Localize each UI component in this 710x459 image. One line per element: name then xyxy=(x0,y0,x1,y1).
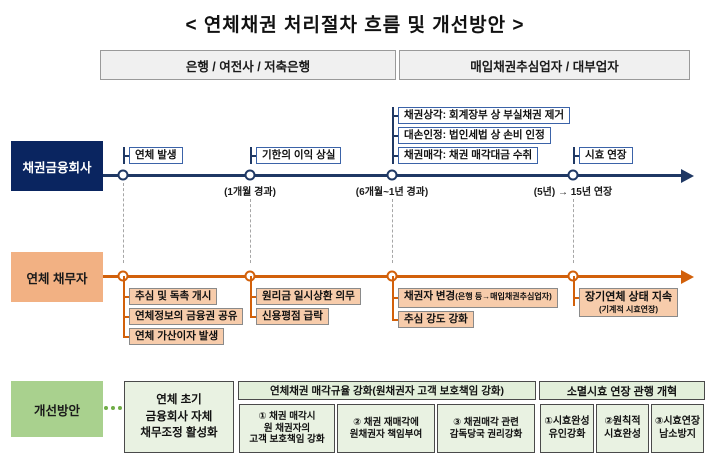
plan-cell-line: ①시효완성 xyxy=(544,416,589,429)
creditor-callout-2-1: 대손인정: 법인세법 상 손비 인정 xyxy=(398,127,551,144)
creditor-callout-0-0: 연체 발생 xyxy=(129,147,183,164)
debtor-callout-2-0: 채권자 변경(은행 등→매입채권추심업자) xyxy=(398,288,558,308)
page-title: < 연체채권 처리절차 흐름 및 개선방안 > xyxy=(0,10,710,37)
creditor-time-caption-2: (6개월~1년 경과) xyxy=(356,183,428,198)
plan-group-heading-0: 연체채권 매각규율 강화(원채권자 고객 보호책임 강화) xyxy=(238,381,536,400)
plan-dotted-connector xyxy=(104,406,122,410)
row-label-creditor: 채권금융회사 xyxy=(11,141,103,191)
plan-cell-line: ②원칙적 xyxy=(604,416,640,429)
debtor-stem-0 xyxy=(123,276,125,337)
plan-group-0-cell-2: ③ 채권매각 관련감독당국 권리강화 xyxy=(437,404,535,453)
header-bank-group: 은행 / 여전사 / 저축은행 xyxy=(100,50,396,80)
creditor-time-caption-3: (5년) → 15년 연장 xyxy=(534,183,612,198)
creditor-callout-3-0: 시효 연장 xyxy=(579,147,633,164)
guide-line-upper-0 xyxy=(123,183,124,263)
debtor-stem-1 xyxy=(250,276,252,317)
debtor-callout-0-0: 추심 및 독촉 개시 xyxy=(129,288,217,305)
debtor-callout-subtext: (기계적 시효연장) xyxy=(599,305,658,314)
debtor-callout-3-0: 장기연체 상태 지속(기계적 시효연장) xyxy=(579,288,678,317)
guide-line-upper-2 xyxy=(392,199,393,263)
header-buyer-group: 매입채권추심업자 / 대부업자 xyxy=(399,50,690,80)
debtor-callout-text: 채권자 변경 xyxy=(404,290,455,302)
creditor-callout-2-2: 채권매각: 채권 매각대금 수취 xyxy=(398,147,538,164)
debtor-callout-0-1: 연체정보의 금융권 공유 xyxy=(129,308,243,325)
debtor-stem-2 xyxy=(392,276,394,320)
debtor-callout-1-1: 신용평점 급락 xyxy=(256,308,329,325)
creditor-callout-1-0: 기한의 이익 상실 xyxy=(256,147,341,164)
creditor-node-3 xyxy=(568,170,579,181)
plan-cell-line: 남소방지 xyxy=(659,429,696,442)
plan-cell-line: ③시효연장 xyxy=(655,416,700,429)
plan-standalone-line: 금융회사 자체 xyxy=(146,409,213,426)
plan-standalone-line: 채무조정 활성화 xyxy=(140,425,217,442)
plan-cell-line: 원 채권자의 xyxy=(264,423,310,435)
row-label-debtor: 연체 채무자 xyxy=(11,252,103,302)
plan-cell-line: ② 채권 재매각에 xyxy=(353,417,419,429)
debtor-stem-3 xyxy=(573,276,575,306)
plan-group-0-cell-0: ① 채권 매각시원 채권자의고객 보호책임 강화 xyxy=(239,404,335,453)
creditor-time-caption-1: (1개월 경과) xyxy=(224,183,276,198)
debtor-callout-1-0: 원리금 일시상환 의무 xyxy=(256,288,361,305)
plan-group-1-cell-1: ②원칙적시효완성 xyxy=(596,404,649,453)
plan-standalone-line: 연체 초기 xyxy=(156,392,202,409)
guide-line-upper-3 xyxy=(573,199,574,263)
plan-cell-line: 감독당국 권리강화 xyxy=(450,429,523,441)
creditor-node-1 xyxy=(245,170,256,181)
plan-cell-line: ① 채권 매각시 xyxy=(258,411,315,423)
plan-group-1-cell-2: ③시효연장남소방지 xyxy=(651,404,704,453)
debtor-axis-arrow-icon xyxy=(681,270,694,284)
creditor-axis-arrow-icon xyxy=(681,169,694,183)
plan-group-0-cell-1: ② 채권 재매각에원채권자 책임부여 xyxy=(337,404,435,453)
plan-cell-line: 유인강화 xyxy=(549,429,586,442)
debtor-callout-2-1: 추심 강도 강화 xyxy=(398,311,474,328)
plan-cell-line: 고객 보호책임 강화 xyxy=(249,434,324,446)
plan-cell-line: 원채권자 책임부여 xyxy=(350,429,423,441)
plan-standalone-box: 연체 초기금융회사 자체채무조정 활성화 xyxy=(124,381,234,453)
creditor-callout-2-0: 채권상각: 회계장부 상 부실채권 제거 xyxy=(398,107,570,124)
creditor-node-0 xyxy=(118,170,129,181)
plan-cell-line: 시효완성 xyxy=(604,429,641,442)
creditor-node-2 xyxy=(387,170,398,181)
plan-group-1-cell-0: ①시효완성유인강화 xyxy=(540,404,594,453)
debtor-callout-text: 장기연체 상태 지속 xyxy=(585,291,672,303)
guide-line-upper-1 xyxy=(250,199,251,263)
row-label-plan: 개선방안 xyxy=(11,381,103,437)
plan-group-heading-1: 소멸시효 연장 관행 개혁 xyxy=(539,381,705,400)
diagram-canvas: < 연체채권 처리절차 흐름 및 개선방안 > 은행 / 여전사 / 저축은행 … xyxy=(0,0,710,459)
plan-cell-line: ③ 채권매각 관련 xyxy=(453,417,519,429)
debtor-callout-subtext: (은행 등→매입채권추심업자) xyxy=(455,292,552,301)
debtor-callout-0-2: 연체 가산이자 발생 xyxy=(129,328,224,345)
